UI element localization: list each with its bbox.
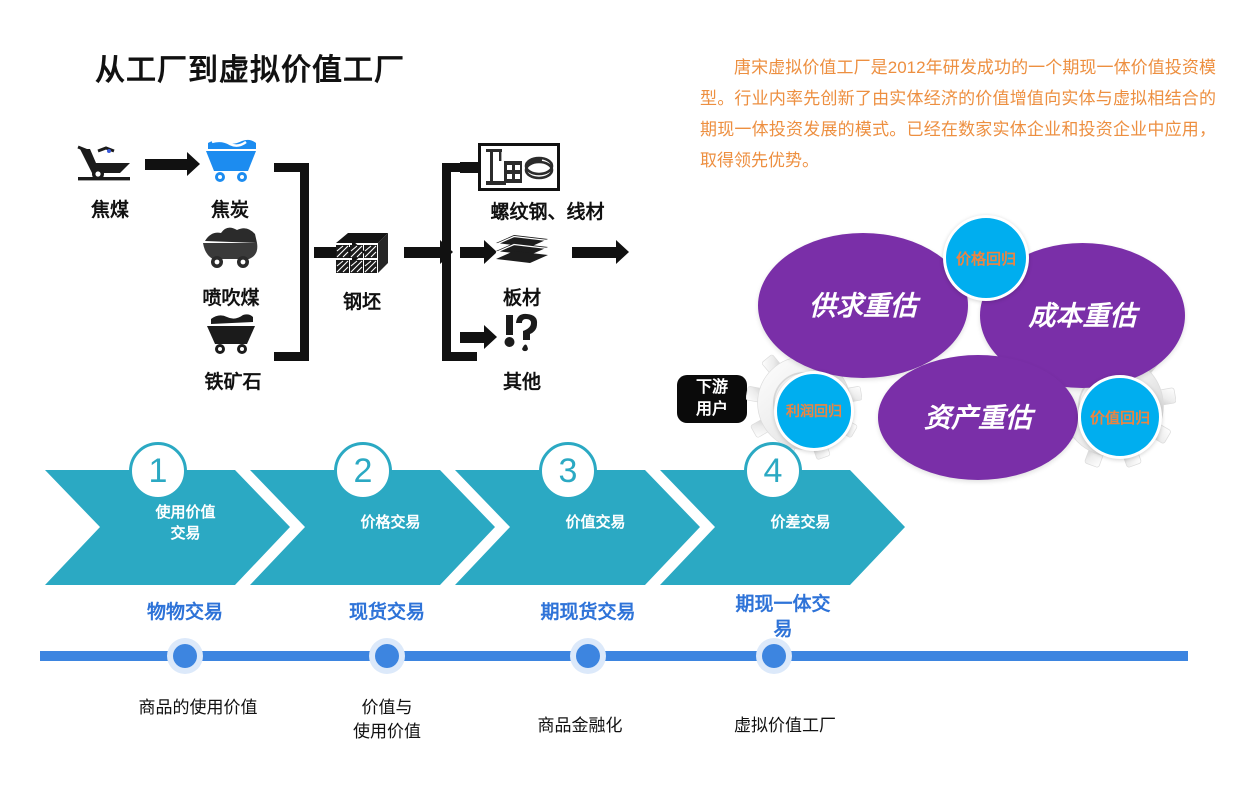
timeline-dot-4[interactable]: [756, 638, 792, 674]
flow-arrow-downstream: [572, 247, 616, 258]
timeline-dot-4-core: [762, 644, 786, 668]
timeline-label-2: 现货交易: [307, 600, 467, 625]
timeline-caption-2: 价值与 使用价值: [297, 696, 477, 744]
revaluation-cluster: 供求重估 成本重估 资产重估 价格回归 利润回归 价值回归: [730, 215, 1240, 465]
timeline-dot-2[interactable]: [369, 638, 405, 674]
circle-value-return: 价值回归: [1078, 375, 1162, 459]
flow-label-gangpi: 钢坯: [332, 287, 392, 314]
timeline-label-1: 物物交易: [105, 600, 265, 625]
flow-arrow-out-2: [460, 247, 484, 258]
timeline-label-3: 期现货交易: [498, 600, 678, 625]
flow-arrow-3: [404, 247, 440, 258]
coal-truck-icon: [201, 227, 261, 269]
flow-label-tiekuangshi: 铁矿石: [188, 367, 278, 394]
timeline-caption-4: 虚拟价值工厂: [695, 714, 875, 738]
timeline-dot-3[interactable]: [570, 638, 606, 674]
page-title: 从工厂到虚拟价值工厂: [95, 45, 405, 89]
evolution-timeline: 物物交易 商品的使用价值 现货交易 价值与 使用价值 期现货交易 商品金融化 期…: [20, 596, 1220, 766]
timeline-dot-1[interactable]: [167, 638, 203, 674]
rebar-wire-icon: [478, 143, 560, 191]
steel-plate-icon: [492, 235, 552, 273]
circle-profit-return-label: 利润回归: [786, 401, 842, 421]
flow-label-bancai: 板材: [492, 283, 552, 310]
flow-label-luowengang: 螺纹钢、线材: [460, 197, 635, 224]
infographic-canvas: 从工厂到虚拟价值工厂 唐宋虚拟价值工厂是2012年研发成功的一个期现一体价值投资…: [0, 0, 1257, 786]
flow-arrow-out-3: [460, 332, 484, 343]
ellipse-supply-demand-label: 供求重估: [808, 289, 918, 323]
intro-paragraph: 唐宋虚拟价值工厂是2012年研发成功的一个期现一体价值投资模型。行业内率先创新了…: [700, 52, 1216, 176]
flow-bracket-left: [274, 163, 309, 361]
chevron-number-1: 1: [129, 442, 187, 500]
downstream-line1: 下游: [696, 379, 728, 396]
steel-billet-icon: [332, 231, 392, 277]
downstream-line2: 用户: [696, 401, 728, 418]
timeline-caption-1: 商品的使用价值: [88, 696, 308, 720]
circle-profit-return: 利润回归: [774, 371, 854, 451]
chevron-stage-1-label: 使用价值 交易: [45, 502, 290, 544]
mine-cart-blue-icon: [202, 139, 260, 183]
circle-value-return-label: 价值回归: [1090, 407, 1150, 428]
timeline-dot-2-core: [375, 644, 399, 668]
flow-label-penchuimei: 喷吹煤: [186, 283, 276, 310]
circle-price-return-label: 价格回归: [956, 248, 1016, 269]
stage-chevron-band: 使用价值 交易 1 价格交易 2 价值交易 3 价差交易 4: [45, 470, 925, 585]
flow-label-jiaotan: 焦炭: [200, 195, 260, 222]
timeline-caption-3: 商品金融化: [490, 714, 670, 738]
timeline-dot-3-core: [576, 644, 600, 668]
ellipse-asset-label: 资产重估: [923, 401, 1033, 435]
chevron-number-4: 4: [744, 442, 802, 500]
flow-arrow-1: [145, 159, 187, 170]
mine-cart-ore-icon: [203, 313, 259, 355]
chevron-number-3: 3: [539, 442, 597, 500]
flow-label-qita: 其他: [492, 367, 552, 394]
question-mark-icon: [502, 313, 546, 359]
ellipse-supply-demand: 供求重估: [758, 233, 968, 378]
ellipse-cost-label: 成本重估: [1028, 299, 1138, 333]
timeline-bar: [40, 651, 1188, 661]
flow-label-jiaomei: 焦煤: [80, 195, 140, 222]
timeline-dot-1-core: [173, 644, 197, 668]
timeline-label-4: 期现一体交 易: [708, 592, 858, 642]
wheelbarrow-coal-icon: [76, 143, 138, 181]
production-flow-diagram: 焦煤 焦炭 喷吹煤: [60, 135, 720, 415]
circle-price-return: 价格回归: [943, 215, 1029, 301]
chevron-number-2: 2: [334, 442, 392, 500]
ellipse-asset: 资产重估: [878, 355, 1078, 480]
